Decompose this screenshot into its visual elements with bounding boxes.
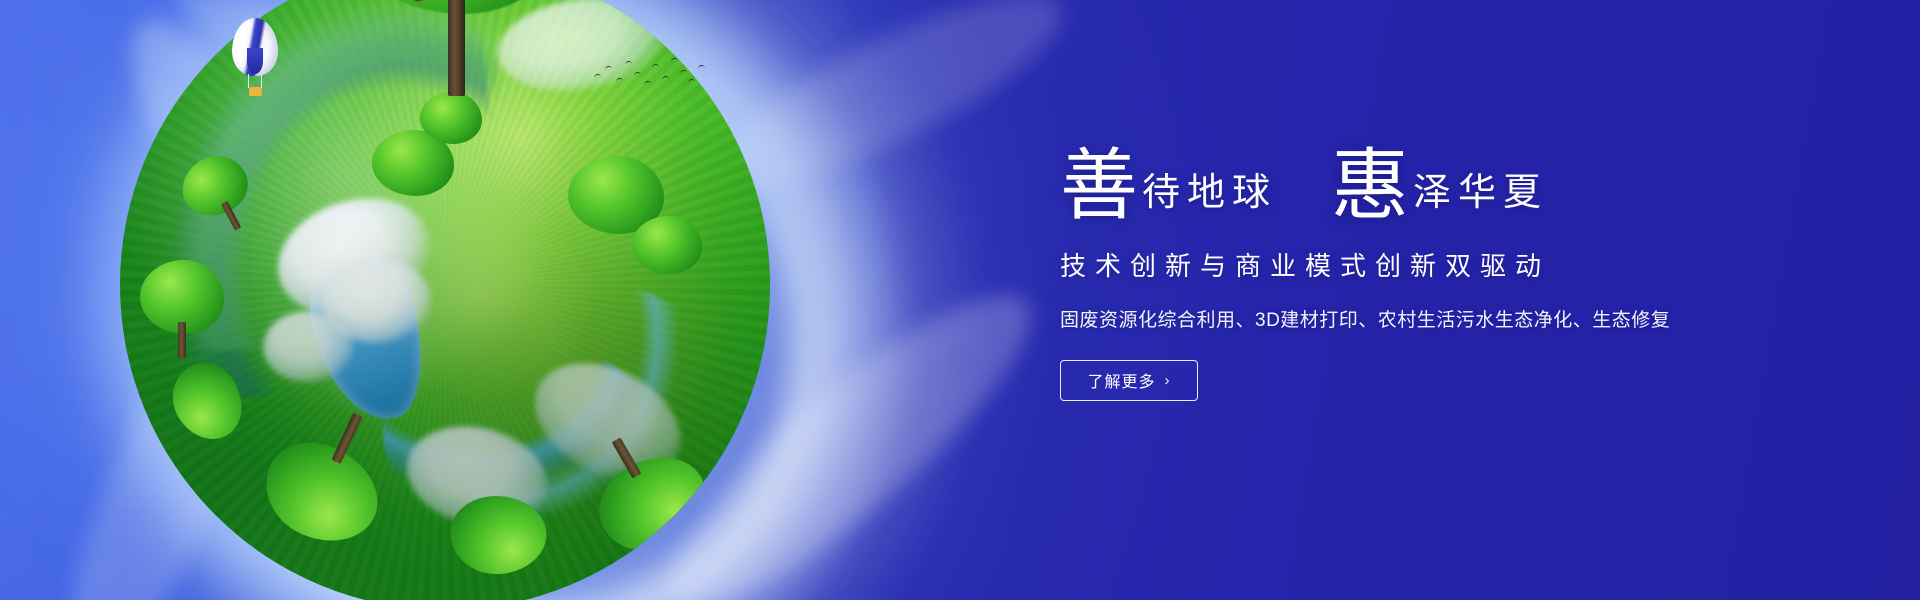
chevron-right-icon: › — [1165, 373, 1171, 388]
cloud-streak-icon — [635, 256, 1065, 600]
cloud-streak-icon — [178, 150, 381, 539]
river-icon — [444, 271, 758, 585]
cloud-icon — [514, 339, 701, 504]
river-icon — [355, 300, 703, 595]
large-tree-icon — [352, 0, 562, 94]
cloud-icon — [396, 412, 558, 541]
cloud-streak-icon — [697, 0, 1082, 218]
banner-subtitle: 技术创新与商业模式创新双驱动 — [1060, 246, 1740, 283]
tree-icon — [172, 145, 266, 243]
cloud-streak-icon — [34, 261, 305, 600]
headline-small-text-1: 待地球 — [1142, 174, 1277, 222]
sky-swirl-outer — [0, 0, 1120, 600]
birds-flock-icon — [592, 52, 712, 92]
learn-more-label: 了解更多 — [1087, 368, 1155, 392]
forest-ridge-icon — [120, 0, 517, 407]
forest-ridge-icon — [159, 0, 497, 350]
hot-air-balloon-icon — [232, 18, 278, 104]
sky-swirl-inner — [0, 0, 1118, 600]
tree-icon — [372, 130, 454, 208]
tree-icon — [159, 340, 274, 452]
hero-banner: 善 待地球 惠 泽华夏 技术创新与商业模式创新双驱动 固废资源化综合利用、3D建… — [0, 0, 1920, 600]
lake-shore — [275, 214, 459, 454]
lake-icon — [298, 237, 436, 430]
cloud-icon — [322, 259, 433, 344]
tree-icon — [632, 216, 702, 282]
tree-icon — [140, 260, 224, 356]
cloud-streak-icon — [158, 0, 562, 254]
headline-small-text-2: 泽华夏 — [1413, 174, 1548, 222]
headline-group-1: 善 待地球 — [1060, 150, 1277, 222]
tree-icon — [448, 468, 548, 575]
banner-description: 固废资源化综合利用、3D建材打印、农村生活污水生态净化、生态修复 — [1060, 305, 1740, 332]
headline-group-2: 惠 泽华夏 — [1331, 150, 1548, 222]
tree-icon — [568, 156, 664, 246]
tree-icon — [420, 92, 482, 150]
page-title: 善 待地球 惠 泽华夏 — [1060, 150, 1740, 222]
tree-icon — [567, 411, 722, 570]
tree-icon — [246, 381, 414, 559]
headline-big-char-1: 善 — [1060, 150, 1138, 222]
headline-big-char-2: 惠 — [1331, 150, 1409, 222]
cloud-icon — [263, 311, 354, 383]
learn-more-button[interactable]: 了解更多 › — [1060, 360, 1198, 401]
banner-copy: 善 待地球 惠 泽华夏 技术创新与商业模式创新双驱动 固废资源化综合利用、3D建… — [1060, 150, 1740, 401]
cloud-icon — [263, 179, 446, 332]
